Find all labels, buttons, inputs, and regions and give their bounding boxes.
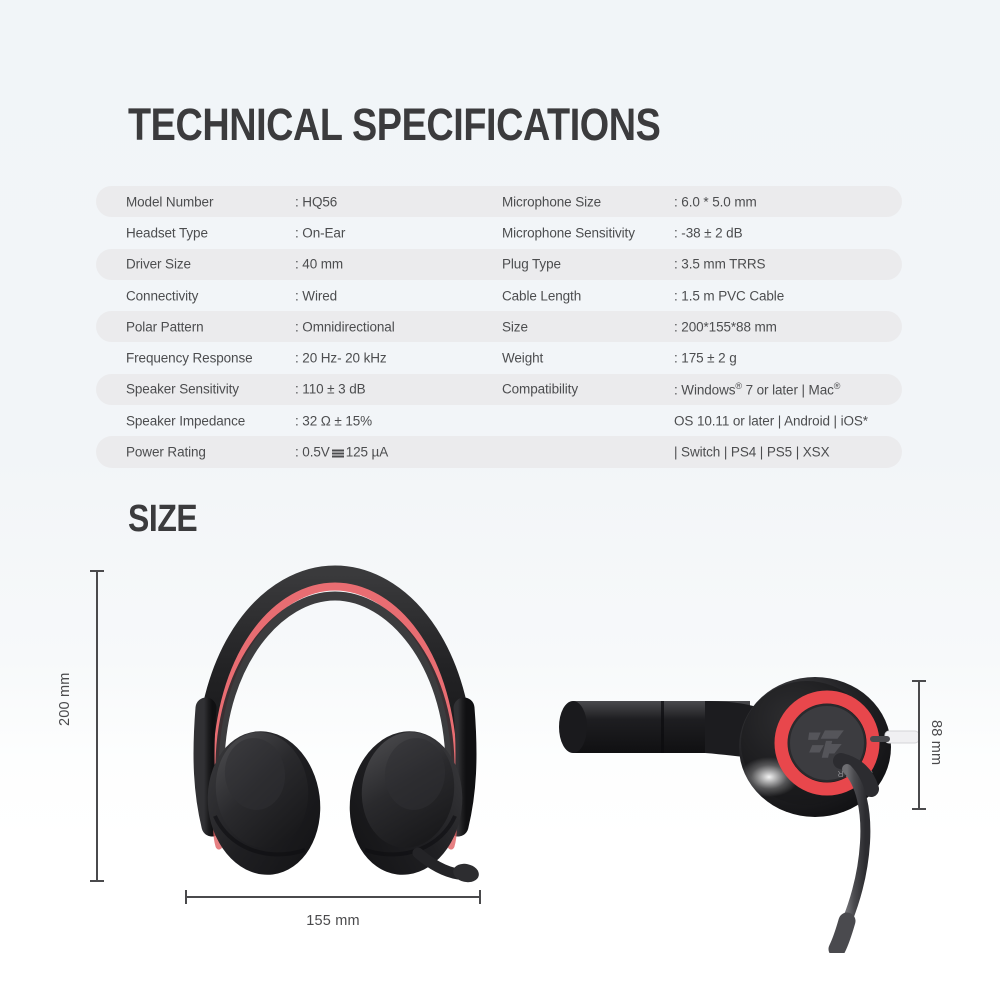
power-rating-voltage: : 0.5V bbox=[295, 445, 330, 460]
dimension-shaft bbox=[96, 570, 98, 882]
depth-dimension-label: 88 mm bbox=[928, 720, 944, 765]
headband-seam bbox=[661, 701, 664, 753]
spec-value: : 3.5 mm TRRS bbox=[674, 257, 765, 272]
dimension-cap-top bbox=[912, 680, 926, 682]
technical-specifications-heading: TECHNICAL SPECIFICATIONS bbox=[128, 99, 660, 151]
spec-value: : -38 ± 2 dB bbox=[674, 225, 743, 240]
spec-value: OS 10.11 or later | Android | iOS* bbox=[674, 413, 868, 428]
spec-label: Driver Size bbox=[126, 257, 191, 272]
dimension-cap-top bbox=[90, 570, 104, 572]
spec-value: : HQ56 bbox=[295, 194, 337, 209]
dimension-cap-left bbox=[185, 890, 187, 904]
spec-label: Polar Pattern bbox=[126, 319, 204, 334]
spec-label: Connectivity bbox=[126, 288, 198, 303]
spec-label: Plug Type bbox=[502, 257, 561, 272]
microphone-capsule bbox=[837, 921, 847, 949]
spec-value: : 20 Hz- 20 kHz bbox=[295, 351, 387, 366]
dc-current-icon bbox=[332, 449, 344, 456]
headphone-front-view bbox=[170, 558, 500, 888]
depth-dimension-line bbox=[918, 680, 920, 810]
spec-label: Frequency Response bbox=[126, 351, 253, 366]
spec-value: : Wired bbox=[295, 288, 337, 303]
spec-label: Speaker Impedance bbox=[126, 413, 245, 428]
dimension-shaft bbox=[185, 896, 481, 898]
headphone-side-view: STORE R bbox=[555, 643, 920, 953]
spec-value: : 200*155*88 mm bbox=[674, 319, 777, 334]
table-row: Model Number : HQ56 Microphone Size : 6.… bbox=[96, 186, 902, 217]
spec-label: Compatibility bbox=[502, 382, 578, 397]
spec-value: : 1.5 m PVC Cable bbox=[674, 288, 784, 303]
spec-label: Microphone Sensitivity bbox=[502, 225, 635, 240]
spec-value: : 6.0 * 5.0 mm bbox=[674, 194, 757, 209]
spec-value: : 40 mm bbox=[295, 257, 343, 272]
table-row: Speaker Sensitivity : 110 ± 3 dB Compati… bbox=[96, 374, 902, 405]
width-dimension-line bbox=[185, 896, 481, 898]
spec-label: Power Rating bbox=[126, 445, 206, 460]
spec-label: Weight bbox=[502, 351, 543, 366]
size-heading: SIZE bbox=[128, 498, 197, 541]
spec-value: : 32 Ω ± 15% bbox=[295, 413, 372, 428]
table-row: Connectivity : Wired Cable Length : 1.5 … bbox=[96, 280, 902, 311]
spec-label: Headset Type bbox=[126, 225, 208, 240]
spec-label: Model Number bbox=[126, 194, 213, 209]
power-rating-current: 125 µA bbox=[346, 445, 388, 460]
table-row: Headset Type : On-Ear Microphone Sensiti… bbox=[96, 217, 902, 248]
spec-value: : On-Ear bbox=[295, 225, 345, 240]
table-row: Frequency Response : 20 Hz- 20 kHz Weigh… bbox=[96, 342, 902, 373]
boom-microphone bbox=[418, 853, 481, 885]
height-dimension-line bbox=[96, 570, 98, 882]
height-dimension-label: 200 mm bbox=[57, 672, 73, 726]
table-row: Power Rating : 0.5V125 µA | Switch | PS4… bbox=[96, 436, 902, 467]
spec-value: : Omnidirectional bbox=[295, 319, 395, 334]
spec-value: : 110 ± 3 dB bbox=[295, 382, 366, 397]
spec-label: Size bbox=[502, 319, 528, 334]
dimension-cap-bottom bbox=[90, 880, 104, 882]
table-row: Polar Pattern : Omnidirectional Size : 2… bbox=[96, 311, 902, 342]
spec-value-power-rating: : 0.5V125 µA bbox=[295, 445, 388, 460]
spec-label: Speaker Sensitivity bbox=[126, 382, 239, 397]
dimension-shaft bbox=[918, 680, 920, 810]
spec-value: : Windows® 7 or later | Mac® bbox=[674, 381, 840, 398]
size-diagram: 200 mm bbox=[0, 548, 1000, 1000]
dimension-cap-bottom bbox=[912, 808, 926, 810]
product-spec-sheet: TECHNICAL SPECIFICATIONS Model Number : … bbox=[0, 0, 1000, 1000]
spec-value: | Switch | PS4 | PS5 | XSX bbox=[674, 445, 830, 460]
dimension-cap-right bbox=[479, 890, 481, 904]
spec-label: Cable Length bbox=[502, 288, 581, 303]
width-dimension-label: 155 mm bbox=[185, 913, 481, 929]
table-row: Driver Size : 40 mm Plug Type : 3.5 mm T… bbox=[96, 249, 902, 280]
specifications-table: Model Number : HQ56 Microphone Size : 6.… bbox=[96, 186, 902, 468]
table-row: Speaker Impedance : 32 Ω ± 15% OS 10.11 … bbox=[96, 405, 902, 436]
spec-value: : 175 ± 2 g bbox=[674, 351, 737, 366]
headband-end-cap bbox=[559, 701, 587, 753]
spec-label: Microphone Size bbox=[502, 194, 601, 209]
